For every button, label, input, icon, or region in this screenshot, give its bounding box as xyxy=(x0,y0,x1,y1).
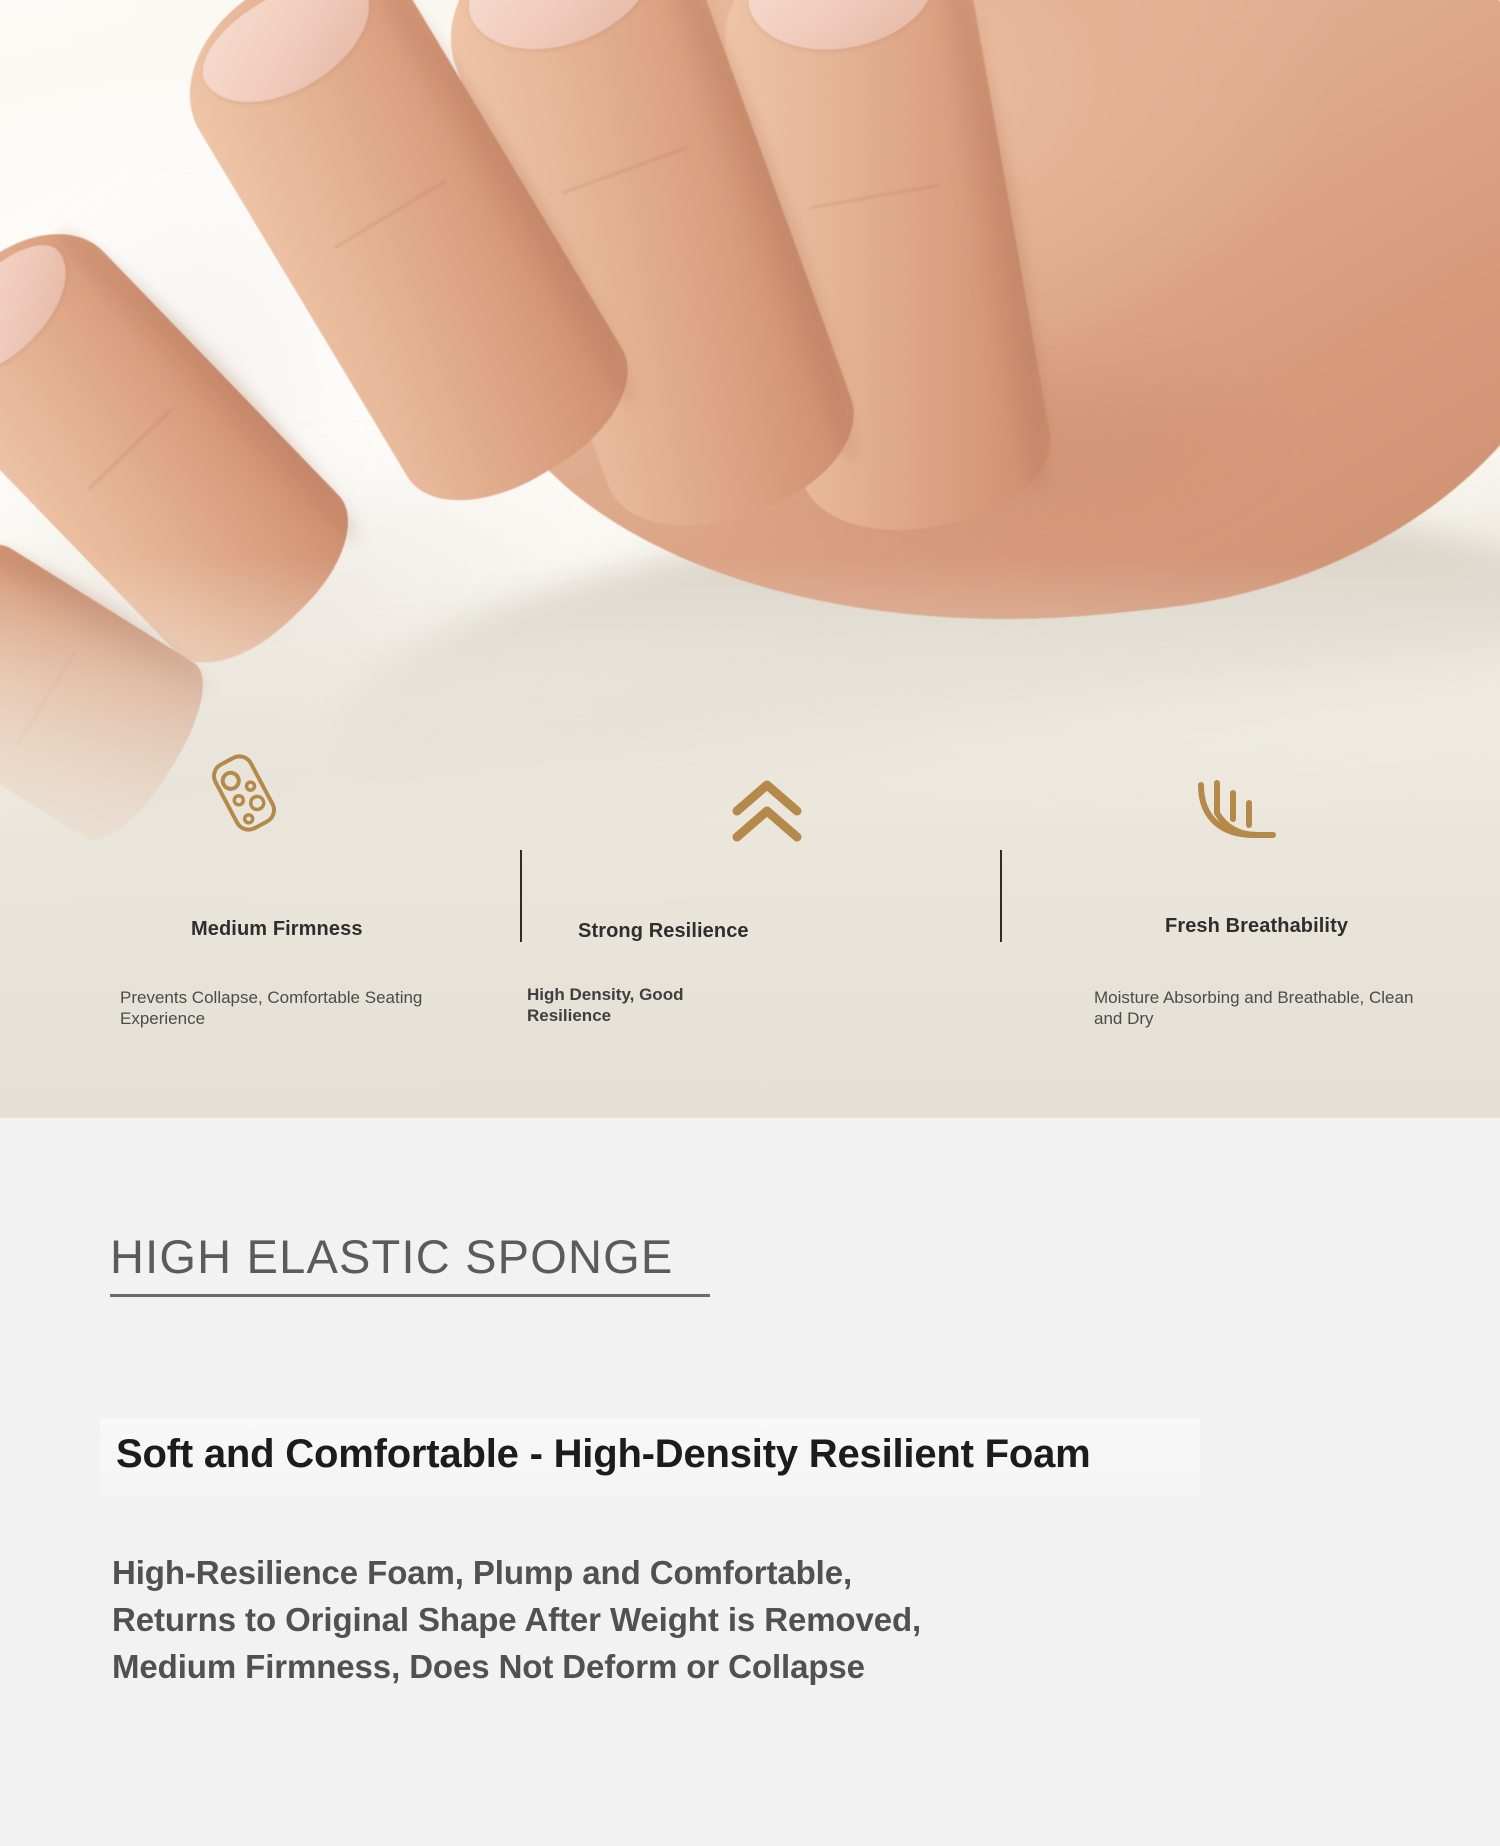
eyebrow-underline xyxy=(110,1294,710,1297)
feature-item-strong-resilience: Strong Resilience High Density, Good Res… xyxy=(500,745,1000,1118)
feature-item-fresh-breathability: Fresh Breathability Moisture Absorbing a… xyxy=(1000,745,1500,1118)
feature-title: Strong Resilience xyxy=(578,920,749,943)
feature-title: Fresh Breathability xyxy=(1165,915,1348,938)
knuckle-crease xyxy=(87,407,173,490)
hand-illustration xyxy=(0,0,1500,680)
feature-title: Medium Firmness xyxy=(191,918,363,941)
knuckle-crease xyxy=(810,184,939,209)
sponge-pores-icon xyxy=(196,745,292,845)
feature-item-medium-firmness: Medium Firmness Prevents Collapse, Comfo… xyxy=(0,745,500,1118)
feature-description: High Density, Good Resilience xyxy=(527,985,757,1026)
feature-description: Moisture Absorbing and Breathable, Clean… xyxy=(1094,988,1424,1029)
knuckle-crease xyxy=(562,146,689,194)
fingernail-shape xyxy=(0,551,3,707)
product-info-section: HIGH ELASTIC SPONGE Soft and Comfortable… xyxy=(0,1118,1500,1846)
eyebrow-text: HIGH ELASTIC SPONGE xyxy=(110,1233,710,1280)
page-headline: Soft and Comfortable - High-Density Resi… xyxy=(100,1418,1200,1495)
body-copy-line: Medium Firmness, Does Not Deform or Coll… xyxy=(112,1644,1172,1691)
product-detail-page: Medium Firmness Prevents Collapse, Comfo… xyxy=(0,0,1500,1846)
feature-highlights: Medium Firmness Prevents Collapse, Comfo… xyxy=(0,745,1500,1118)
fingernail-shape xyxy=(455,0,670,73)
leaf-breathable-icon xyxy=(1191,773,1283,873)
section-eyebrow: HIGH ELASTIC SPONGE xyxy=(110,1233,710,1297)
knuckle-crease xyxy=(18,651,76,743)
knuckle-crease xyxy=(333,180,445,249)
fingernail-shape xyxy=(185,0,393,130)
body-copy-line: Returns to Original Shape After Weight i… xyxy=(112,1597,1172,1644)
hero-photo-section: Medium Firmness Prevents Collapse, Comfo… xyxy=(0,0,1500,1118)
body-copy: High-Resilience Foam, Plump and Comforta… xyxy=(112,1550,1172,1691)
feature-description: Prevents Collapse, Comfortable Seating E… xyxy=(120,988,450,1029)
body-copy-line: High-Resilience Foam, Plump and Comforta… xyxy=(112,1550,1172,1597)
fingernail-shape xyxy=(742,0,943,63)
double-chevron-up-icon xyxy=(725,777,809,877)
fingernail-shape xyxy=(0,226,90,400)
